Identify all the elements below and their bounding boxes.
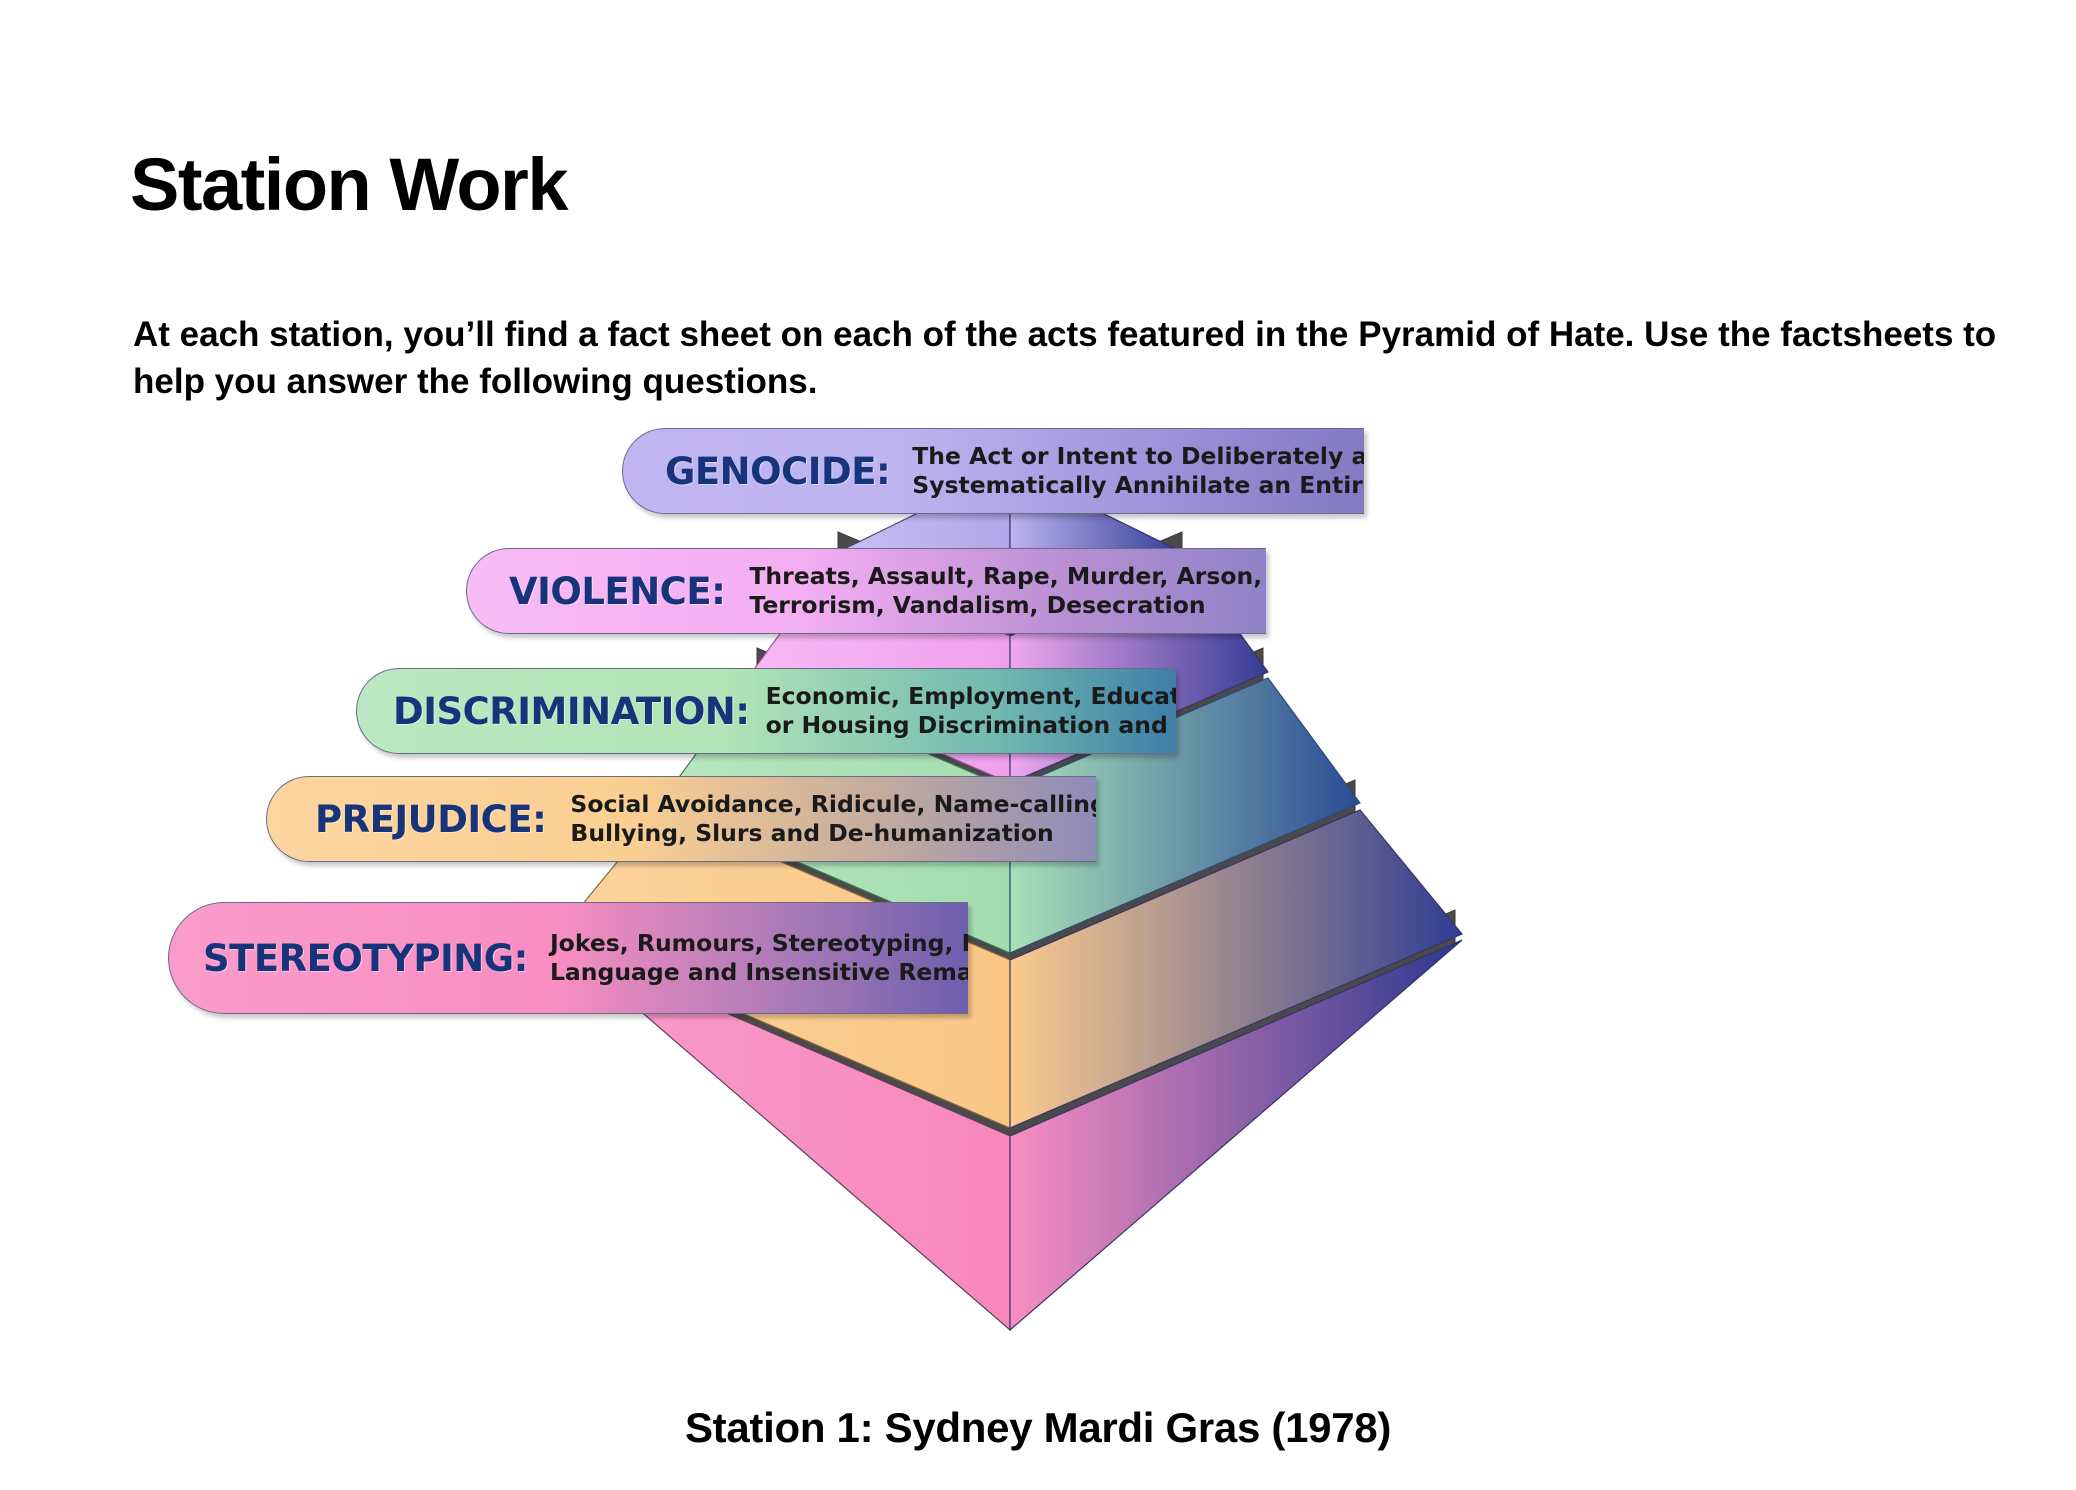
pyramid-of-hate-diagram: GENOCIDE: The Act or Intent to Deliberat…: [0, 440, 2076, 1360]
tier-desc-line-2: or Housing Discrimination and Segregatio…: [766, 711, 1176, 740]
tier-desc-stereotyping: Jokes, Rumours, Stereotyping, Non-inclus…: [550, 929, 968, 986]
tier-desc-prejudice: Social Avoidance, Ridicule, Name-calling…: [570, 790, 1096, 847]
tier-tab-prejudice[interactable]: PREJUDICE: Social Avoidance, Ridicule, N…: [266, 776, 1096, 862]
tier-desc-discrimination: Economic, Employment, Educational, Polit…: [766, 682, 1176, 739]
tier-desc-line-2: Systematically Annihilate an Entire Peop…: [912, 471, 1364, 500]
tier-tab-genocide[interactable]: GENOCIDE: The Act or Intent to Deliberat…: [622, 428, 1364, 514]
tier-term-genocide: GENOCIDE:: [665, 450, 890, 493]
tier-desc-line-2: Bullying, Slurs and De-humanization: [570, 819, 1096, 848]
figure-caption: Station 1: Sydney Mardi Gras (1978): [0, 1404, 2076, 1452]
tier-desc-line-1: The Act or Intent to Deliberately and: [912, 442, 1364, 471]
tier-desc-line-2: Terrorism, Vandalism, Desecration: [749, 591, 1262, 620]
tier-desc-line-1: Social Avoidance, Ridicule, Name-calling…: [570, 790, 1096, 819]
tier-desc-line-1: Economic, Employment, Educational, Polit…: [766, 682, 1176, 711]
page-title: Station Work: [130, 148, 567, 222]
tier-tab-discrimination[interactable]: DISCRIMINATION: Economic, Employment, Ed…: [356, 668, 1176, 754]
tier-desc-line-2: Language and Insensitive Remarks: [550, 958, 968, 987]
tier-desc-line-1: Jokes, Rumours, Stereotyping, Non-inclus…: [550, 929, 968, 958]
tier-term-prejudice: PREJUDICE:: [315, 798, 546, 841]
tier-desc-genocide: The Act or Intent to Deliberately and Sy…: [912, 442, 1364, 499]
tier-tab-stereotyping[interactable]: STEREOTYPING: Jokes, Rumours, Stereotypi…: [168, 902, 968, 1014]
intro-paragraph: At each station, you’ll find a fact shee…: [133, 312, 2003, 405]
tier-term-discrimination: DISCRIMINATION:: [393, 690, 750, 733]
tier-tab-violence[interactable]: VIOLENCE: Threats, Assault, Rape, Murder…: [466, 548, 1266, 634]
tier-term-violence: VIOLENCE:: [509, 570, 725, 613]
tier-desc-violence: Threats, Assault, Rape, Murder, Arson, T…: [749, 562, 1262, 619]
tier-term-stereotyping: STEREOTYPING:: [203, 937, 528, 980]
tier-desc-line-1: Threats, Assault, Rape, Murder, Arson,: [749, 562, 1262, 591]
